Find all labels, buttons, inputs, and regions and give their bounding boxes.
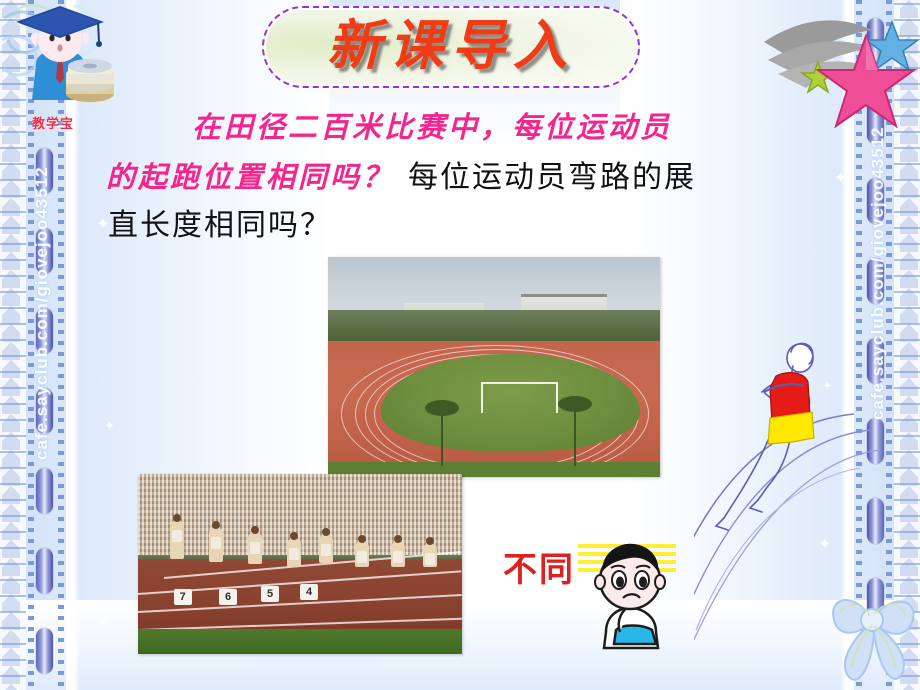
question-line-3: 直长度相同吗？ bbox=[108, 200, 332, 244]
question-text-pink: 的起跑位置相同吗？ bbox=[106, 160, 394, 194]
slide-canvas: ✦ ◇ ✦ ◇ ✦ ✦ ◇ ✦ ◇ ✦ bbox=[0, 0, 920, 690]
lane-number-block: 7 bbox=[174, 589, 192, 605]
page-title: 新课导入 bbox=[262, 4, 640, 86]
sparkle-icon: ◇ bbox=[128, 306, 136, 319]
ribbon-bow-icon bbox=[826, 556, 920, 690]
graduate-mascot-icon bbox=[2, 0, 122, 118]
watermark-left: cafe.sayclub.com/giovejoo43512 bbox=[32, 220, 52, 460]
mascot-logo-label: 教学宝 bbox=[32, 113, 74, 132]
lane-number-block: 5 bbox=[261, 586, 279, 602]
answer-label: 不同 bbox=[503, 542, 575, 591]
question-line-1: 在田径二百米比赛中，每位运动员 bbox=[192, 104, 672, 146]
sparkle-icon: ✦ bbox=[96, 612, 109, 632]
question-text-black: 直长度相同吗？ bbox=[108, 208, 332, 243]
stadium-photo bbox=[328, 257, 660, 477]
lane-number-block: 4 bbox=[300, 584, 318, 600]
question-text-pink: 在田径二百米比赛中，每位运动员 bbox=[192, 110, 672, 144]
question-text-black: 每位运动员弯路的展 bbox=[408, 160, 696, 195]
thinking-child-icon bbox=[578, 536, 682, 654]
sparkle-icon: ◇ bbox=[808, 246, 816, 259]
sprinters-photo: 7 6 5 4 bbox=[138, 474, 462, 654]
sparkle-icon: ✦ bbox=[104, 418, 115, 434]
lane-number-block: 6 bbox=[219, 589, 237, 605]
question-line-2: 的起跑位置相同吗？每位运动员弯路的展 bbox=[106, 152, 696, 196]
shooting-star-icon bbox=[760, 0, 920, 128]
